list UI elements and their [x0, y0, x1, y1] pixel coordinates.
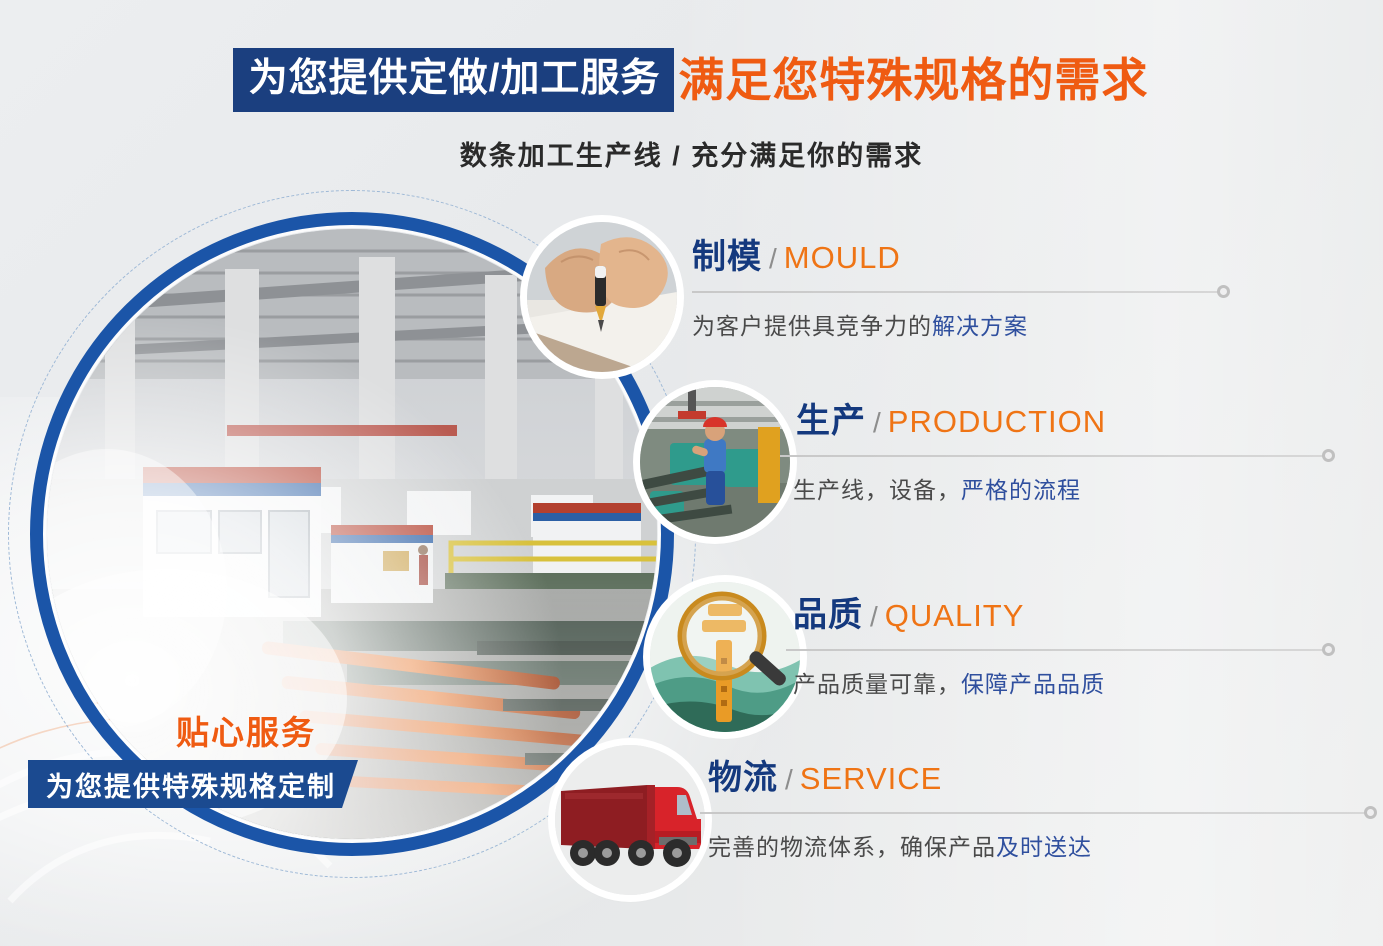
- quality-icon: [650, 582, 800, 732]
- item-title: 制模/MOULD: [692, 240, 901, 274]
- production-icon: [640, 387, 790, 537]
- item-title: 物流/SERVICE: [708, 761, 942, 795]
- divider-end-dot: [1364, 806, 1377, 819]
- logistics-icon: [555, 745, 705, 895]
- feature-list: 制模/MOULD 为客户提供具竞争力的解决方案: [0, 0, 1383, 946]
- divider-end-dot: [1217, 285, 1230, 298]
- divider-end-dot: [1322, 449, 1335, 462]
- item-description: 为客户提供具竞争力的解决方案: [692, 307, 1028, 341]
- item-description: 生产线，设备，严格的流程: [793, 471, 1081, 505]
- item-title: 生产/PRODUCTION: [796, 404, 1106, 438]
- item-divider: [786, 649, 1326, 651]
- item-divider: [692, 291, 1220, 293]
- item-divider: [780, 455, 1325, 457]
- promo-banner: 为您提供定做/加工服务 满足您特殊规格的需求 数条加工生产线 / 充分满足你的需…: [0, 0, 1383, 946]
- item-title: 品质/QUALITY: [793, 598, 1024, 632]
- mould-icon: [527, 222, 677, 372]
- divider-end-dot: [1322, 643, 1335, 656]
- item-divider: [700, 812, 1368, 814]
- item-description: 产品质量可靠，保障产品品质: [793, 665, 1105, 699]
- item-description: 完善的物流体系，确保产品及时送达: [708, 828, 1092, 862]
